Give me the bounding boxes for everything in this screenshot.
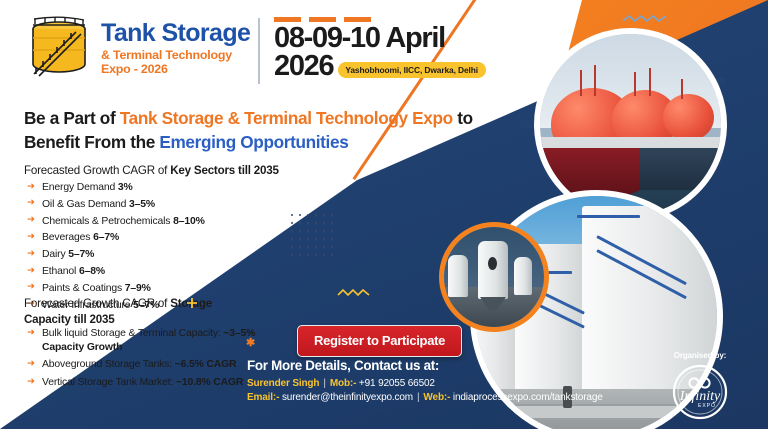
dot	[291, 230, 293, 232]
contact-web-label: Web:-	[423, 392, 450, 403]
headline-part-2: to	[453, 108, 473, 128]
dot	[307, 246, 309, 248]
dot	[323, 222, 325, 224]
contact-phone-line: Surender Singh|Mob:- +91 92055 66502	[247, 378, 603, 389]
dot	[315, 230, 317, 232]
logo-divider	[258, 18, 260, 84]
dot	[307, 238, 309, 240]
sectors-section-title: Forecasted Growth CAGR of Key Sectors ti…	[24, 163, 279, 179]
contact-title: For More Details, Contact us at:	[247, 358, 603, 373]
contact-mob-value[interactable]: +91 92055 66502	[359, 378, 435, 389]
dot	[315, 214, 317, 216]
storage-tank-icon	[26, 16, 92, 78]
sparkle-decoration: ✱	[246, 336, 255, 349]
vertical-tanks-photo	[439, 222, 549, 332]
list-item-label: Energy Demand	[42, 182, 118, 193]
dot	[331, 246, 333, 248]
dot	[315, 254, 317, 256]
list-item: Bulk liquid Storage & Terminal Capacity:…	[27, 327, 257, 354]
dot	[299, 254, 301, 256]
contact-block: For More Details, Contact us at: Surende…	[247, 358, 603, 406]
dot	[291, 222, 293, 224]
list-item-value: ~10.8% CAGR	[176, 377, 243, 388]
dot	[331, 214, 333, 216]
headline-part-1: Be a Part of	[24, 108, 120, 128]
headline-highlight-blue: Emerging Opportunities	[159, 132, 348, 152]
list-item-label: Vertical Storage Tank Market:	[42, 377, 176, 388]
headline-part-3: Benefit From the	[24, 132, 159, 152]
list-item-label: Oil & Gas Demand	[42, 199, 129, 210]
dot	[323, 230, 325, 232]
squiggle-decoration	[337, 285, 371, 303]
dot	[331, 238, 333, 240]
cross-decoration	[186, 296, 198, 314]
dot	[299, 214, 301, 216]
list-item: Beverages 6–7%	[27, 231, 205, 245]
dot	[307, 254, 309, 256]
dot-grid-decoration	[291, 214, 333, 256]
list-item-value: 6–7%	[93, 232, 119, 243]
logo-line-2: & Terminal Technology	[101, 49, 250, 61]
list-item-value: 6–8%	[79, 266, 105, 277]
logo-line-3: Expo - 2026	[101, 63, 250, 75]
list-item-value: 7–9%	[125, 283, 151, 294]
dot	[299, 238, 301, 240]
dot	[315, 246, 317, 248]
dot	[315, 238, 317, 240]
list-item-label: Ethanol	[42, 266, 79, 277]
list-item: Chemicals & Petrochemicals 8–10%	[27, 215, 205, 229]
dot	[323, 214, 325, 216]
storage-list: Bulk liquid Storage & Terminal Capacity:…	[27, 327, 257, 394]
infinity-icon[interactable]: Infinity EXPO	[671, 363, 729, 421]
event-logo[interactable]: Tank Storage & Terminal Technology Expo …	[26, 16, 250, 78]
list-item: Oil & Gas Demand 3–5%	[27, 198, 205, 212]
list-item-label: Beverages	[42, 232, 93, 243]
dot	[323, 238, 325, 240]
contact-web-value[interactable]: indiaprocessexpo.com/tankstorage	[453, 392, 603, 403]
lng-carrier-photo	[534, 28, 727, 221]
list-item: Ethanol 6–8%	[27, 265, 205, 279]
organiser-block: Organised by: Infinity EXPO	[654, 351, 746, 421]
organiser-label: Organised by:	[654, 351, 746, 360]
dot	[323, 254, 325, 256]
list-item: Aboveground Storage Tanks: ~6.5% CAGR	[27, 358, 257, 372]
list-item-value: 5–7%	[68, 249, 94, 260]
contact-separator-1: |	[323, 378, 325, 389]
contact-separator-2: |	[417, 392, 419, 403]
logo-line-1: Tank Storage	[101, 21, 250, 46]
dot	[291, 254, 293, 256]
storage-section-title: Forecasted Growth CAGR of Storage Capaci…	[24, 296, 239, 327]
svg-text:EXPO: EXPO	[698, 403, 716, 409]
dot	[299, 222, 301, 224]
list-item-label: Dairy	[42, 249, 68, 260]
list-item-value: ~6.5% CAGR	[175, 359, 237, 370]
list-item-label: Chemicals & Petrochemicals	[42, 216, 173, 227]
contact-email-line: Email:- surender@theinfinityexpo.com|Web…	[247, 392, 603, 403]
svg-text:Infinity: Infinity	[679, 389, 721, 404]
contact-email-label: Email:-	[247, 392, 279, 403]
sectors-title-bold: Key Sectors till 2035	[170, 164, 279, 177]
contact-email-value[interactable]: surender@theinfinityexpo.com	[282, 392, 413, 403]
list-item-value: 3%	[118, 182, 133, 193]
promo-banner: Tank Storage & Terminal Technology Expo …	[0, 0, 768, 429]
event-year: 2026	[274, 52, 333, 81]
register-button[interactable]: Register to Participate	[297, 325, 462, 357]
dot	[307, 230, 309, 232]
squiggle-decoration-top	[622, 12, 668, 30]
list-item-value: 8–10%	[173, 216, 205, 227]
dot	[299, 246, 301, 248]
list-item-label: Paints & Coatings	[42, 283, 125, 294]
dot	[291, 238, 293, 240]
dot	[291, 214, 293, 216]
contact-name: Surender Singh	[247, 378, 319, 389]
event-date-block: 08-09-10 April 2026 Yashobhoomi, IICC, D…	[274, 17, 486, 81]
event-venue-badge: Yashobhoomi, IICC, Dwarka, Delhi	[338, 62, 486, 78]
list-item: Energy Demand 3%	[27, 181, 205, 195]
dot	[307, 214, 309, 216]
dot	[331, 230, 333, 232]
storage-title-plain: Forecasted Growth CAGR of	[24, 297, 170, 310]
dot	[331, 222, 333, 224]
headline-highlight-orange: Tank Storage & Terminal Technology Expo	[120, 108, 453, 128]
list-item: Paints & Coatings 7–9%	[27, 282, 205, 296]
page-title: Be a Part of Tank Storage & Terminal Tec…	[24, 106, 494, 155]
dot	[299, 230, 301, 232]
list-item: Vertical Storage Tank Market: ~10.8% CAG…	[27, 376, 257, 390]
dot	[307, 222, 309, 224]
list-item: Dairy 5–7%	[27, 248, 205, 262]
sectors-title-plain: Forecasted Growth CAGR of	[24, 164, 170, 177]
dot	[315, 222, 317, 224]
dot	[331, 254, 333, 256]
contact-mob-label: Mob:-	[330, 378, 356, 389]
list-item-label: Aboveground Storage Tanks:	[42, 359, 175, 370]
list-item-value: 3–5%	[129, 199, 155, 210]
list-item-label: Bulk liquid Storage & Terminal Capacity:	[42, 328, 223, 339]
dot	[323, 246, 325, 248]
dot	[291, 246, 293, 248]
